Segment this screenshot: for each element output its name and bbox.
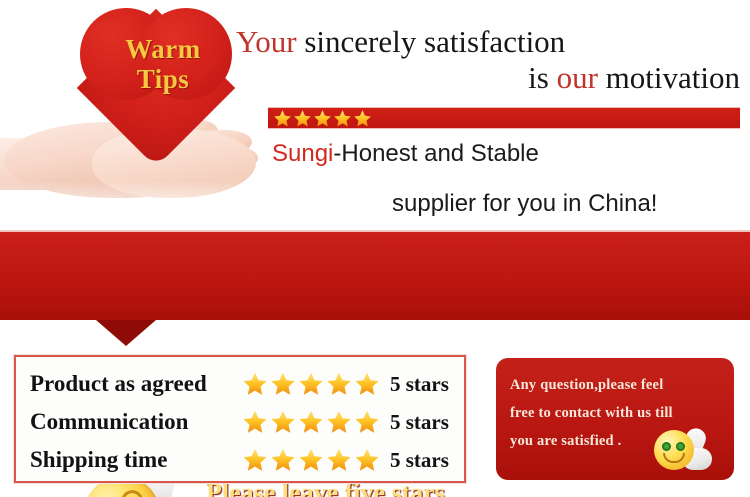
five-star-bar [268, 107, 740, 129]
warm-tips-line2: Tips [137, 64, 190, 94]
rating-label: Shipping time [30, 447, 242, 473]
tagline-line1-rest: -Honest and Stable [333, 140, 538, 167]
star-icon [298, 447, 324, 473]
emoji-eye-right [119, 488, 143, 497]
smiley-thumbs-up-emoji [654, 428, 720, 472]
star-icon [242, 371, 268, 397]
star-icon [354, 409, 380, 435]
emoji-face [654, 430, 694, 470]
rating-stars [242, 409, 382, 435]
star-icon [242, 447, 268, 473]
feedback-banner: Please leave five stars positive feedbac… [0, 230, 750, 320]
rating-value: 5 stars [390, 372, 449, 397]
tagline-line-2: supplier for you in China! [392, 190, 657, 218]
star-icon [354, 371, 380, 397]
hero-section: Warm Tips Your sincerely satisfaction is… [0, 0, 750, 228]
emoji-eye-left [662, 442, 671, 451]
headline-line1-rest: sincerely satisfaction [297, 24, 566, 59]
heart-icon: Warm Tips [78, 6, 248, 156]
contact-line-2: free to contact with us till [510, 399, 722, 427]
brand-name: Sungi [272, 140, 333, 167]
image-fade-overlay [0, 180, 268, 228]
star-icon [293, 109, 312, 128]
star-icon [326, 409, 352, 435]
tagline-line-1: Sungi-Honest and Stable [272, 140, 539, 168]
headline-word-our: our [557, 60, 598, 95]
hands-holding-heart-illustration: Warm Tips [0, 0, 268, 228]
star-icon [333, 109, 352, 128]
ratings-table: Product as agreed5 starsCommunication5 s… [14, 355, 466, 483]
table-row: Communication5 stars [30, 403, 454, 441]
headline-line-2: is our motivation [236, 60, 748, 96]
star-icon [270, 409, 296, 435]
rating-stars [242, 371, 382, 397]
table-row: Shipping time5 stars [30, 441, 454, 479]
emoji-eye-right [676, 442, 685, 451]
star-icon [242, 409, 268, 435]
banner-tail-shape [96, 320, 156, 346]
promo-banner-page: Warm Tips Your sincerely satisfaction is… [0, 0, 750, 497]
headline: Your sincerely satisfaction is our motiv… [236, 24, 748, 96]
star-icon [270, 447, 296, 473]
star-icon [353, 109, 372, 128]
rating-label: Communication [30, 409, 242, 435]
star-icon [326, 371, 352, 397]
star-icon [354, 447, 380, 473]
rating-stars [242, 447, 382, 473]
headline-line2-suffix: motivation [598, 60, 740, 95]
star-icon [270, 371, 296, 397]
rating-value: 5 stars [390, 410, 449, 435]
warm-tips-line1: Warm [125, 34, 201, 64]
star-icon [313, 109, 332, 128]
warm-tips-label: Warm Tips [78, 34, 248, 94]
contact-line-1: Any question,please feel [510, 371, 722, 399]
star-icon [298, 371, 324, 397]
headline-line2-prefix: is [528, 60, 556, 95]
star-icon [298, 409, 324, 435]
star-icon [273, 109, 292, 128]
star-icon [326, 447, 352, 473]
headline-line-1: Your sincerely satisfaction [236, 24, 565, 59]
rating-value: 5 stars [390, 448, 449, 473]
emoji-mouth [663, 453, 685, 463]
table-row: Product as agreed5 stars [30, 365, 454, 403]
rating-label: Product as agreed [30, 371, 242, 397]
contact-callout-box: Any question,please feel free to contact… [496, 358, 734, 480]
